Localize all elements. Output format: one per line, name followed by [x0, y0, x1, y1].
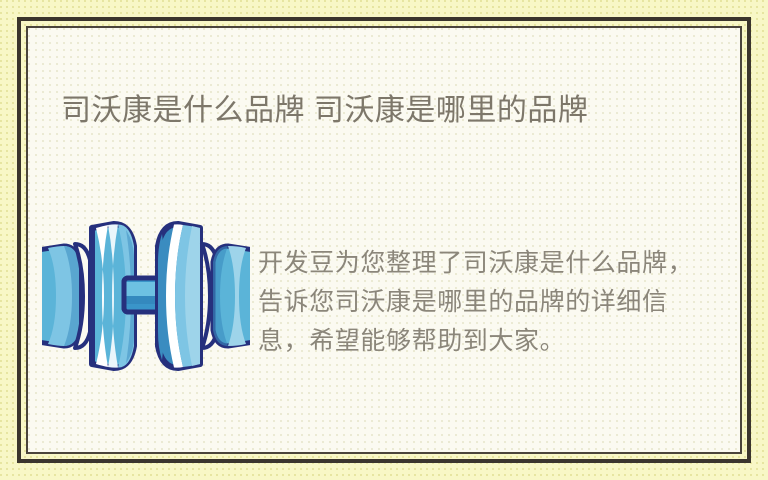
article-body-text: 开发豆为您整理了司沃康是什么品牌，告诉您司沃康是哪里的品牌的详细信息，希望能够帮… [258, 243, 708, 360]
page-root: 司沃康是什么品牌 司沃康是哪里的品牌 [0, 0, 768, 480]
page-title: 司沃康是什么品牌 司沃康是哪里的品牌 [61, 89, 701, 132]
left-outer-plate [42, 246, 79, 346]
content-card: 司沃康是什么品牌 司沃康是哪里的品牌 [26, 26, 742, 454]
dumbbell-illustration [42, 206, 250, 386]
content-row: 开发豆为您整理了司沃康是什么品牌，告诉您司沃康是哪里的品牌的详细信息，希望能够帮… [28, 196, 742, 426]
right-inner-plate [158, 224, 200, 368]
right-outer-plate [213, 246, 250, 346]
